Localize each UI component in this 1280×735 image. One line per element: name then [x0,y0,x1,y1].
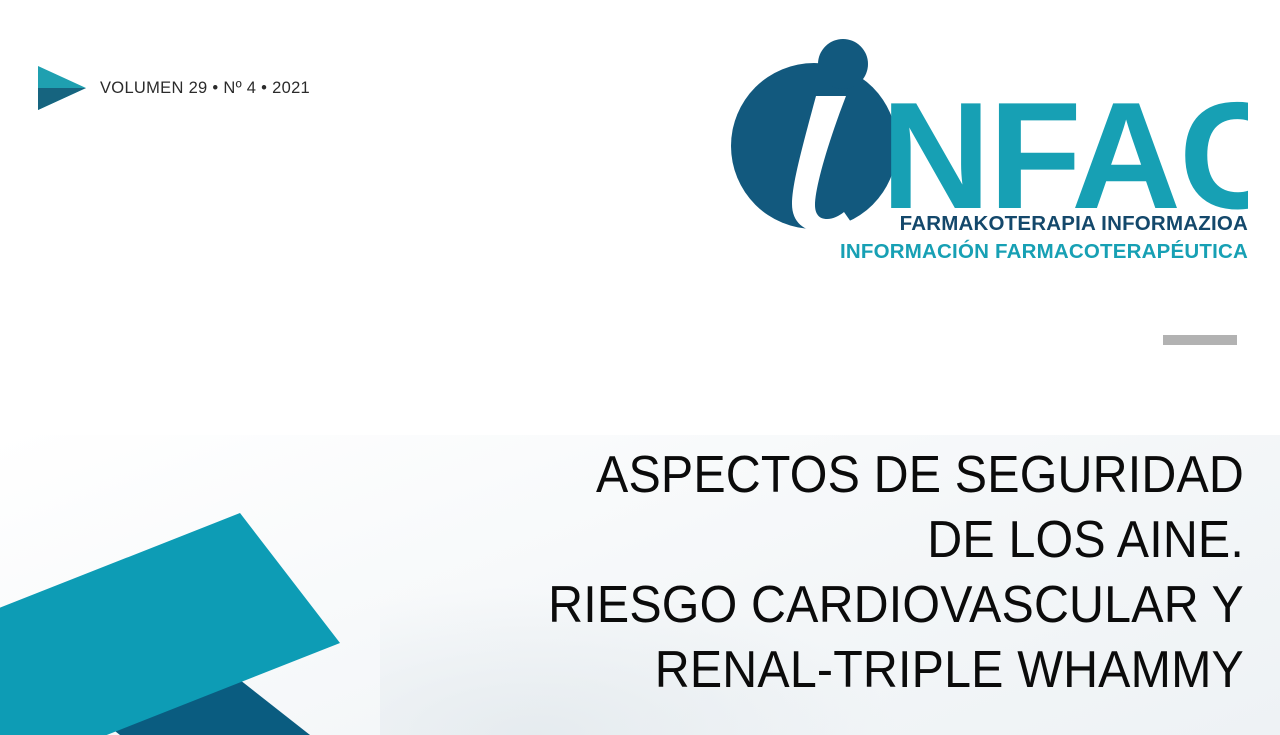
navy-parallelogram [0,625,310,735]
title-line: RENAL-TRIPLE WHAMMY [407,638,1244,703]
decorative-shapes [0,475,430,735]
play-triangle-icon [30,64,88,112]
page-title: ASPECTOS DE SEGURIDAD DE LOS AINE. RIESG… [407,443,1244,703]
volume-header: VOLUMEN 29 • Nº 4 • 2021 [30,64,310,112]
infac-logo: NFAC FARMAKOTERAPIA INFORMAZIOA INFORMAC… [718,36,1248,266]
logo-subtitle-basque: FARMAKOTERAPIA INFORMAZIOA [718,212,1248,236]
infac-bulletin-cover: VOLUMEN 29 • Nº 4 • 2021 NFAC FARMAKOTER… [0,0,1280,735]
title-line: DE LOS AINE. [407,508,1244,573]
title-line: RIESGO CARDIOVASCULAR Y [407,573,1244,638]
gray-rule-divider [1163,335,1237,345]
logo-subtitle-spanish: INFORMACIÓN FARMACOTERAPÉUTICA [718,240,1248,264]
teal-parallelogram [0,513,340,735]
volume-label: VOLUMEN 29 • Nº 4 • 2021 [100,79,310,98]
title-line: ASPECTOS DE SEGURIDAD [407,443,1244,508]
infac-i-circle-icon: NFAC [718,36,1248,236]
